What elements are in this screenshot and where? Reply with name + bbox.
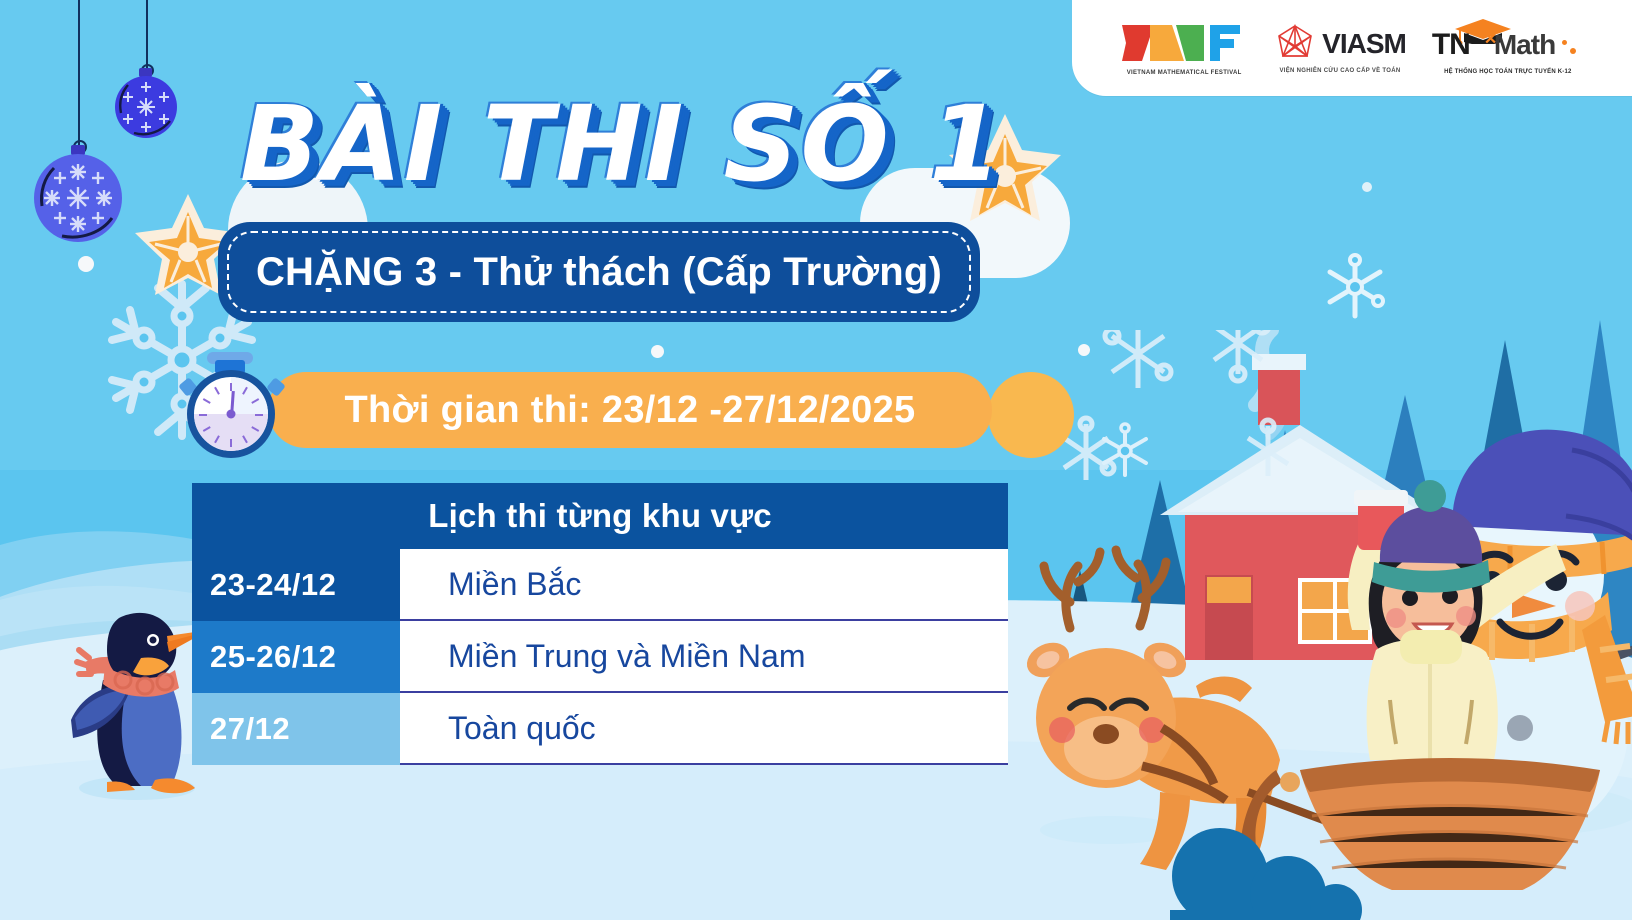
dot-decoration-1	[78, 256, 94, 272]
bush-decoration	[1140, 806, 1440, 920]
penguin-illustration	[45, 600, 215, 800]
ornament-ball-1	[32, 152, 124, 244]
snowflake-small-1	[1320, 252, 1390, 322]
dot-decoration-3	[1078, 344, 1090, 356]
table-row: 27/12 Toàn quốc	[192, 693, 1008, 765]
schedule-date-2: 25-26/12	[192, 621, 400, 693]
vnmf-mark-icon	[1120, 21, 1248, 67]
viasm-subtitle: VIỆN NGHIÊN CỨU CAO CẤP VỀ TOÁN	[1279, 68, 1400, 74]
ornament-string-2	[146, 0, 148, 68]
dot-decoration-2	[651, 345, 664, 358]
schedule-header: Lịch thi từng khu vực	[192, 483, 1008, 549]
schedule-header-label: Lịch thi từng khu vực	[428, 497, 772, 535]
schedule-table: Lịch thi từng khu vực 23-24/12 Miền Bắc …	[192, 483, 1008, 765]
schedule-region-1: Miền Bắc	[400, 549, 1008, 621]
schedule-region-3: Toàn quốc	[400, 693, 1008, 765]
schedule-region-2: Miền Trung và Miền Nam	[400, 621, 1008, 693]
stopwatch-quadrant-1	[231, 377, 268, 414]
tnmath-wordmark-math: Math	[1494, 30, 1555, 60]
snowflake-small-2	[1096, 422, 1154, 480]
tnmath-dot-2	[1562, 40, 1567, 45]
stopwatch-quadrant-3	[194, 414, 231, 451]
table-row: 25-26/12 Miền Trung và Miền Nam	[192, 621, 1008, 693]
ornament-string-1	[78, 0, 80, 146]
ornament-ball-2	[114, 75, 178, 139]
tnmath-subtitle: HỆ THỐNG HỌC TOÁN TRỰC TUYẾN K-12	[1444, 69, 1571, 75]
subtitle-banner: CHẶNG 3 - Thử thách (Cấp Trường)	[218, 222, 980, 322]
exam-time-text: Thời gian thi: 23/12 -27/12/2025	[345, 389, 916, 432]
schedule-date-1: 23-24/12	[192, 549, 400, 621]
tnmath-dot-1	[1570, 48, 1576, 54]
poster-canvas: VIETNAM MATHEMATICAL FESTIVAL	[0, 0, 1632, 920]
vnmf-subtitle: VIETNAM MATHEMATICAL FESTIVAL	[1127, 70, 1242, 76]
logo-vnmf: VIETNAM MATHEMATICAL FESTIVAL	[1120, 21, 1248, 76]
stopwatch-icon	[182, 352, 282, 462]
logo-viasm: VIASM VIỆN NGHIÊN CỨU CAO CẤP VỀ TOÁN	[1274, 23, 1406, 74]
schedule-date-3: 27/12	[192, 693, 400, 765]
page-title: BÀI THI SỐ 1	[240, 92, 980, 196]
logo-bar: VIETNAM MATHEMATICAL FESTIVAL	[1072, 0, 1632, 96]
sun-decoration	[988, 372, 1074, 458]
subtitle-text: CHẶNG 3 - Thử thách (Cấp Trường)	[256, 250, 942, 295]
exam-time-banner: Thời gian thi: 23/12 -27/12/2025	[268, 372, 992, 448]
logo-tnmath: TN ✕ Math HỆ THỐNG HỌC TOÁN TRỰC TUYẾN K…	[1432, 22, 1584, 75]
stopwatch-pin	[227, 410, 236, 419]
stopwatch-quadrant-4	[231, 414, 268, 451]
tnmath-wordmark-tn: TN	[1432, 30, 1470, 60]
dot-decoration-4	[1362, 182, 1372, 192]
viasm-polyhedron-icon	[1274, 23, 1316, 65]
title-area: BÀI THI SỐ 1	[240, 92, 980, 212]
viasm-wordmark: VIASM	[1322, 28, 1406, 60]
stopwatch-face	[187, 370, 275, 458]
table-row: 23-24/12 Miền Bắc	[192, 549, 1008, 621]
